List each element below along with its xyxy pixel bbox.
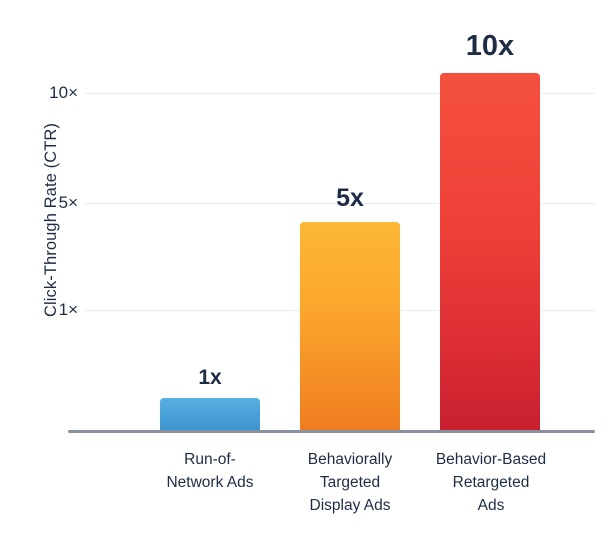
bar-behavior-based-retargeted-ads[interactable] bbox=[440, 73, 540, 431]
category-line: Network Ads bbox=[140, 471, 280, 494]
x-category-label-run-of-network-ads: Run-of- Network Ads bbox=[140, 448, 280, 494]
bar-behaviorally-targeted-display-ads[interactable] bbox=[300, 222, 400, 431]
x-category-label-behaviorally-targeted-display-ads: Behaviorally Targeted Display Ads bbox=[278, 448, 422, 517]
bar-chart: Click-Through Rate (CTR) 10× 5× 1× 1x 5x… bbox=[0, 0, 615, 534]
bar-value-label-1x: 1x bbox=[160, 366, 260, 390]
y-tick-label-5x: 5× bbox=[59, 193, 78, 213]
y-tick-label-1x: 1× bbox=[59, 300, 78, 320]
y-tick-label-10x: 10× bbox=[49, 83, 78, 103]
x-category-label-behavior-based-retargeted-ads: Behavior-Based Retargeted Ads bbox=[416, 448, 566, 517]
x-axis-line bbox=[68, 430, 595, 433]
category-line: Behaviorally bbox=[278, 448, 422, 471]
bar-value-label-5x: 5x bbox=[300, 184, 400, 213]
category-line: Behavior-Based bbox=[416, 448, 566, 471]
category-line: Ads bbox=[416, 494, 566, 517]
category-line: Display Ads bbox=[278, 494, 422, 517]
category-line: Targeted bbox=[278, 471, 422, 494]
bar-run-of-network-ads[interactable] bbox=[160, 398, 260, 431]
bar-value-label-10x: 10x bbox=[440, 30, 540, 63]
plot-area: 10× 5× 1× 1x 5x 10x Run-of- Network Ads … bbox=[0, 0, 615, 534]
category-line: Retargeted bbox=[416, 471, 566, 494]
category-line: Run-of- bbox=[140, 448, 280, 471]
